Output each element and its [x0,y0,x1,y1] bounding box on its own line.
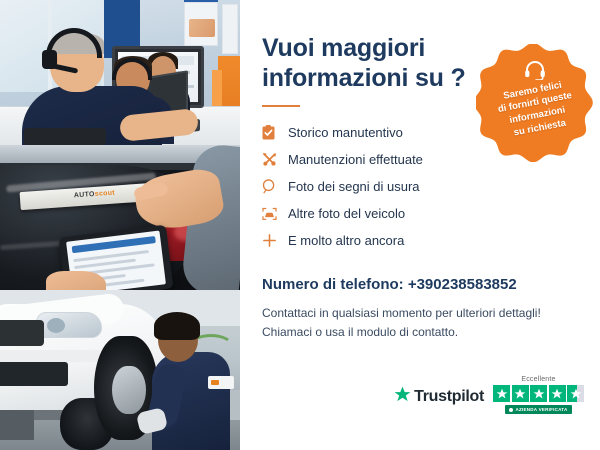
headline-line-2: informazioni su ? [262,64,466,92]
list-item-label: Manutenzioni effettuate [288,152,423,167]
desk-tablet [24,128,106,145]
inspector-second-hand [46,271,106,290]
wall-poster [184,2,218,46]
trustpilot-widget[interactable]: Trustpilot Eccellente [394,376,584,414]
clipboard-check-icon [262,125,288,140]
call-center-agents-photo [0,0,240,145]
wheel-rim [112,366,146,414]
headline-line-1: Vuoi maggiori [262,34,425,62]
badge-text-block: Saremo felici di fornirti queste informa… [466,34,600,172]
star-icon [530,385,547,402]
car-grille-upper [0,320,44,346]
trustpilot-logo: Trustpilot [394,376,484,408]
contact-line-2: Chiamaci o usa il modulo di contatto. [262,323,578,342]
star-icon [549,385,566,402]
mechanic-uniform-badge [208,376,234,389]
verified-label: AZIENDA VERIFICATA [515,407,567,412]
list-item-label: Foto dei segni di usura [288,179,420,194]
mechanic-hair [154,312,200,340]
ruler-brand-label: AUTOscout [74,190,115,200]
list-item: E molto altro ancora [262,227,578,254]
headlight-lens [47,318,65,333]
car-scan-icon [262,207,288,221]
tablet-line [73,250,149,262]
contact-line-1: Contattaci in qualsiasi momento per ulte… [262,304,578,323]
list-item: Altre foto del veicolo [262,200,578,227]
wall-poster-secondary [222,4,238,54]
list-item-label: Altre foto del veicolo [288,206,405,221]
star-icon [512,385,529,402]
star-icon [493,385,510,402]
contact-text: Contattaci in qualsiasi momento per ulte… [262,304,578,341]
promo-card: AUTOscout [0,0,600,450]
list-item-label: Storico manutentivo [288,125,403,140]
star-rating [493,385,584,402]
list-item-label: E molto altro ancora [288,233,404,248]
vehicle-inspection-photo: AUTOscout [0,145,240,290]
star-icon [394,386,411,408]
list-item: Foto dei segni di usura [262,173,578,200]
car-bumper [0,350,100,362]
info-panel: Vuoi maggiori informazioni su ? Storico … [240,0,600,450]
check-icon [509,408,513,412]
magnifier-icon [262,179,288,194]
verified-badge: AZIENDA VERIFICATA [505,405,571,414]
tools-cross-icon [262,152,288,167]
car-lift-post [0,406,34,440]
trustpilot-rating-block: Eccellente [493,376,584,414]
car-grille-lower [0,362,68,386]
callout-badge: Saremo felici di fornirti queste informa… [476,44,594,162]
star-icon-partial [567,385,584,402]
trustpilot-wordmark: Trustpilot [414,388,484,406]
rating-label: Eccellente [521,376,555,383]
car-headlight [36,312,102,338]
wheel-service-photo [0,290,240,450]
plus-icon [262,233,288,248]
phone-number[interactable]: Numero di telefono: +390238583852 [262,276,578,293]
title-divider [262,105,300,107]
photo-column: AUTOscout [0,0,240,450]
